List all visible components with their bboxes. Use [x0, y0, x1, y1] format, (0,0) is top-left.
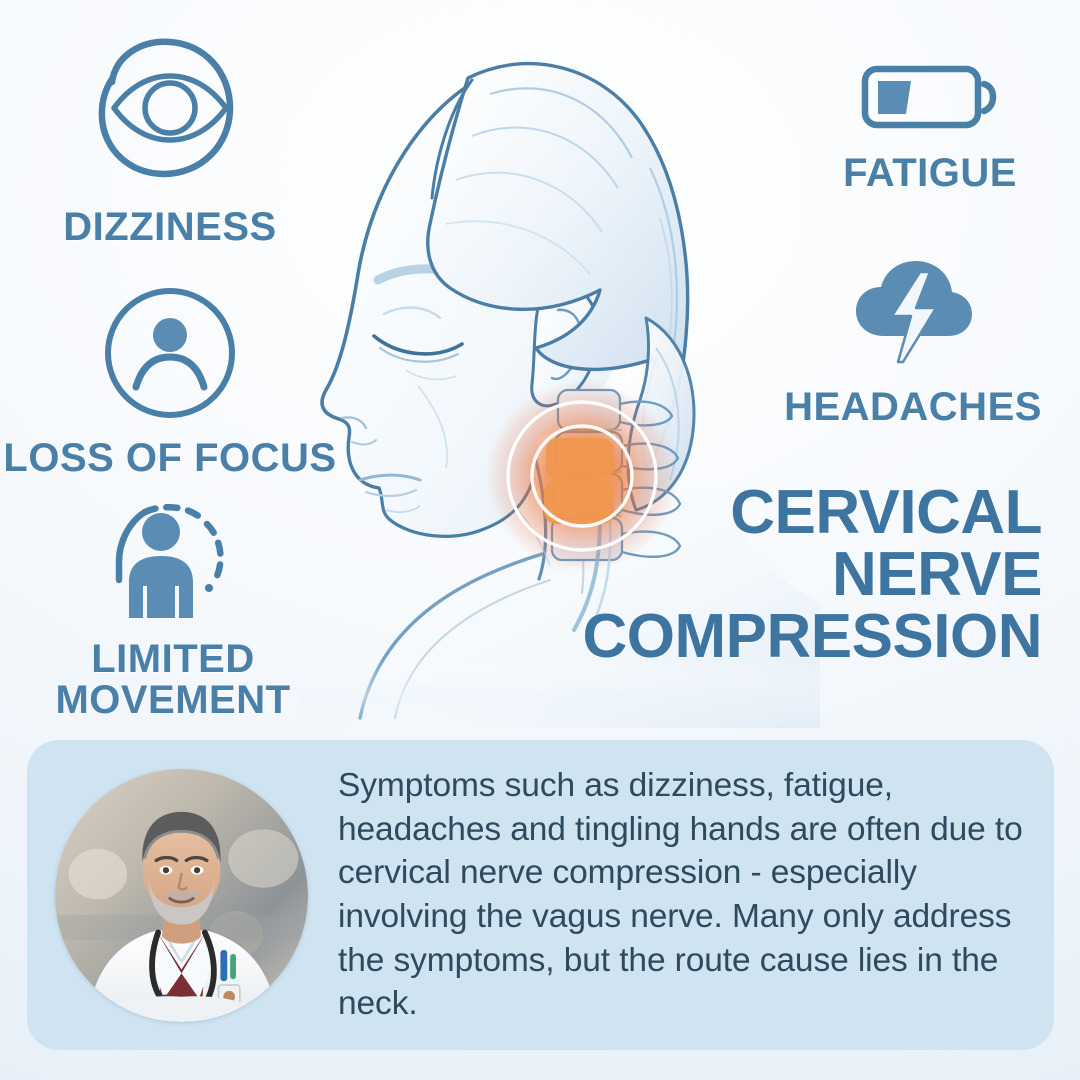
- info-panel: Symptoms such as dizziness, fatigue, hea…: [27, 740, 1054, 1050]
- title-line-2: NERVE: [482, 544, 1042, 606]
- symptom-headaches: HEADACHES: [778, 258, 1048, 428]
- symptom-label-loss-of-focus: LOSS OF FOCUS: [3, 438, 336, 479]
- symptom-label-headaches: HEADACHES: [784, 387, 1042, 428]
- restricted-rotation-person-icon: [103, 500, 243, 631]
- low-battery-icon: [860, 62, 1000, 139]
- sad-person-circle-icon: [100, 283, 240, 428]
- symptom-loss-of-focus: LOSS OF FOCUS: [0, 283, 345, 479]
- eye-swirl-icon: [86, 34, 254, 197]
- storm-cloud-lightning-icon: [848, 258, 978, 375]
- symptom-limited-movement: LIMITED MOVEMENT: [28, 500, 318, 721]
- title-line-1: CERVICAL: [482, 482, 1042, 544]
- symptom-fatigue: FATIGUE: [800, 62, 1060, 194]
- symptom-label-fatigue: FATIGUE: [843, 153, 1017, 194]
- symptom-label-dizziness: DIZZINESS: [63, 207, 276, 248]
- symptom-dizziness: DIZZINESS: [0, 34, 340, 248]
- info-panel-text: Symptoms such as dizziness, fatigue, hea…: [338, 764, 1030, 1025]
- avatar: [55, 769, 308, 1022]
- symptom-label-limited-movement: LIMITED MOVEMENT: [55, 639, 290, 721]
- page-title: CERVICAL NERVE COMPRESSION: [482, 482, 1042, 668]
- title-line-3: COMPRESSION: [482, 606, 1042, 668]
